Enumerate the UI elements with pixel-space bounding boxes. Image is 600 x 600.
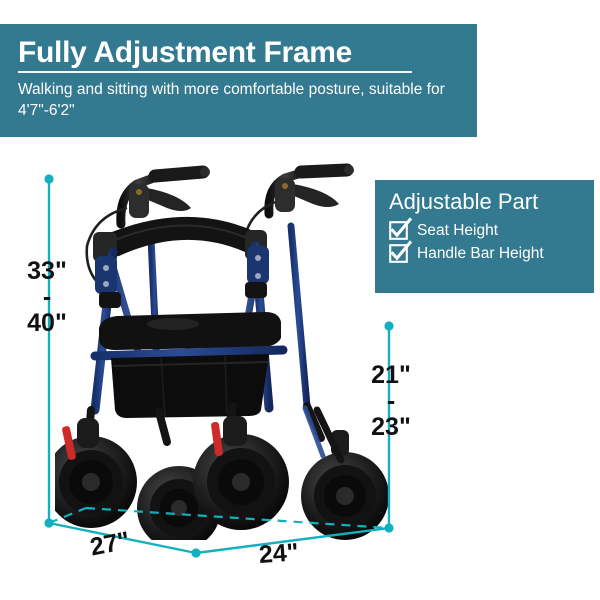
checkbox-checked-icon xyxy=(389,221,408,240)
adjustable-item-handle-bar-height: Handle Bar Height xyxy=(389,244,594,263)
adjustable-item-label: Handle Bar Height xyxy=(417,244,544,263)
wheel xyxy=(193,416,289,530)
infographic-page: Fully Adjustment Frame Walking and sitti… xyxy=(0,0,600,600)
header-subtitle: Walking and sitting with more comfortabl… xyxy=(18,79,448,121)
header-banner: Fully Adjustment Frame Walking and sitti… xyxy=(0,24,477,137)
wheel xyxy=(55,418,137,528)
adjustable-part-panel: Adjustable Part Seat Height Handle Bar H… xyxy=(375,180,594,293)
checkbox-checked-icon xyxy=(389,244,408,263)
adjustable-item-seat-height: Seat Height xyxy=(389,221,594,240)
title-underline xyxy=(18,71,412,73)
adjustable-item-label: Seat Height xyxy=(417,221,498,240)
adjustable-part-title: Adjustable Part xyxy=(389,187,594,217)
page-title: Fully Adjustment Frame xyxy=(18,36,459,70)
wheel xyxy=(301,430,389,540)
product-image xyxy=(55,160,395,540)
dimension-label-width: 24" xyxy=(258,539,299,568)
